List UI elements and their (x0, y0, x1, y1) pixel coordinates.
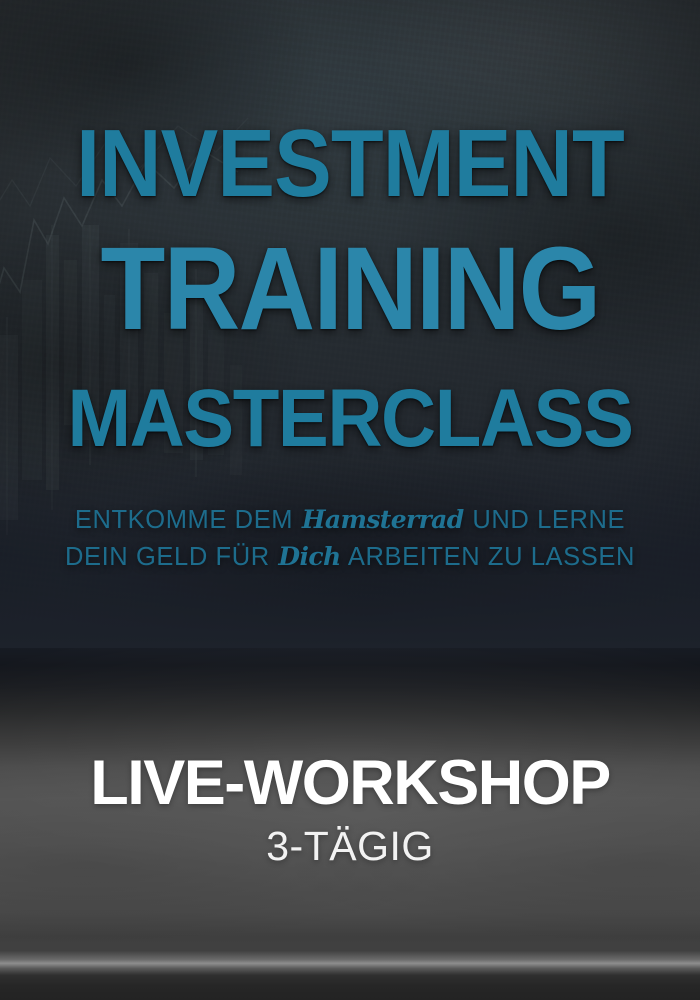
subheadline-block: ENTKOMME DEM Hamsterrad UND LERNE DEIN G… (0, 502, 700, 575)
footer-subtitle-duration: 3-TÄGIG (0, 826, 700, 867)
headline-line-investment: INVESTMENT (35, 124, 665, 205)
subheadline-row2-before: DEIN GELD FÜR (65, 543, 270, 571)
subheadline-row-2: DEIN GELD FÜR Dich ARBEITEN ZU LASSEN (0, 539, 700, 576)
footer-title-live-workshop: LIVE-WORKSHOP (0, 752, 700, 815)
poster-image: INVESTMENT TRAINING MASTERCLASS ENTKOMME… (0, 0, 700, 1000)
subheadline-row1-after: UND LERNE (472, 506, 625, 534)
headline-line-masterclass: MASTERCLASS (25, 385, 676, 454)
subheadline-row1-before: ENTKOMME DEM (75, 506, 293, 534)
subheadline-row2-script: Dich (277, 542, 341, 571)
subheadline-row1-script: Hamsterrad (301, 505, 465, 534)
subheadline-row-1: ENTKOMME DEM Hamsterrad UND LERNE (0, 502, 700, 539)
headline-line-training: TRAINING (35, 240, 665, 339)
subheadline-row2-after: ARBEITEN ZU LASSEN (348, 543, 635, 571)
